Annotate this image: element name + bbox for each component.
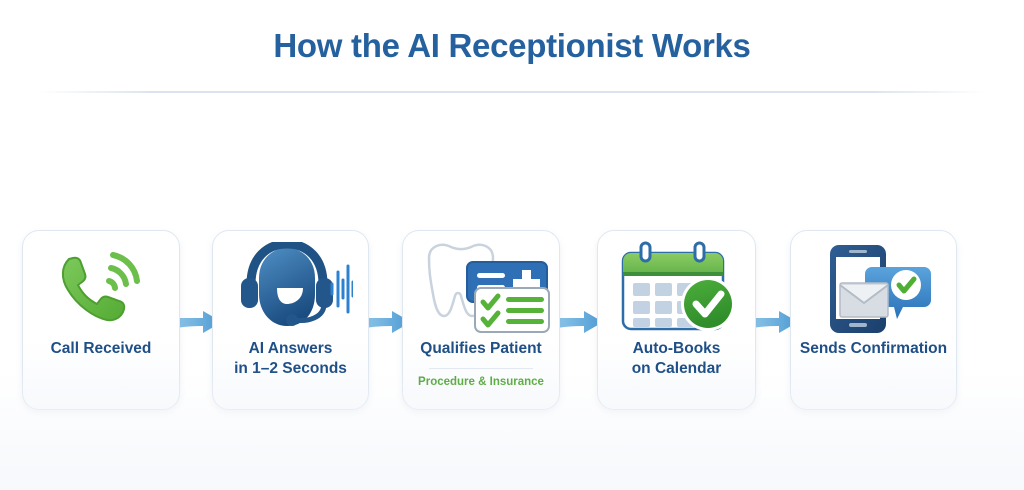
flow-step-sends-confirmation[interactable]: Sends Confirmation (790, 230, 957, 410)
flow-step-label: Call Received (45, 339, 158, 359)
headset-agent-waveform-icon (213, 231, 368, 339)
process-flow: Call Received (0, 230, 1024, 410)
flow-step-label: Qualifies Patient (414, 339, 547, 359)
page-header: How the AI Receptionist Works (0, 0, 1024, 92)
page-title: How the AI Receptionist Works (273, 27, 750, 65)
flow-step-call-received[interactable]: Call Received (22, 230, 180, 410)
tooth-insurance-checklist-icon (403, 231, 559, 339)
flow-step-label: Auto-Books on Calendar (626, 339, 728, 379)
flow-step-ai-answers[interactable]: AI Answers in 1–2 Seconds (212, 230, 369, 410)
flow-step-auto-books[interactable]: Auto-Books on Calendar (597, 230, 756, 410)
flow-step-sublabel: Procedure & Insurance (418, 376, 544, 388)
phone-ringing-icon (23, 231, 179, 339)
flow-step-qualifies-patient[interactable]: Qualifies Patient Procedure & Insurance (402, 230, 560, 410)
label-divider (429, 368, 533, 369)
phone-message-confirmation-icon (791, 231, 956, 339)
header-divider (38, 91, 986, 93)
calendar-check-icon (598, 231, 755, 339)
flow-step-label: AI Answers in 1–2 Seconds (228, 339, 353, 379)
flow-step-label: Sends Confirmation (794, 339, 953, 359)
